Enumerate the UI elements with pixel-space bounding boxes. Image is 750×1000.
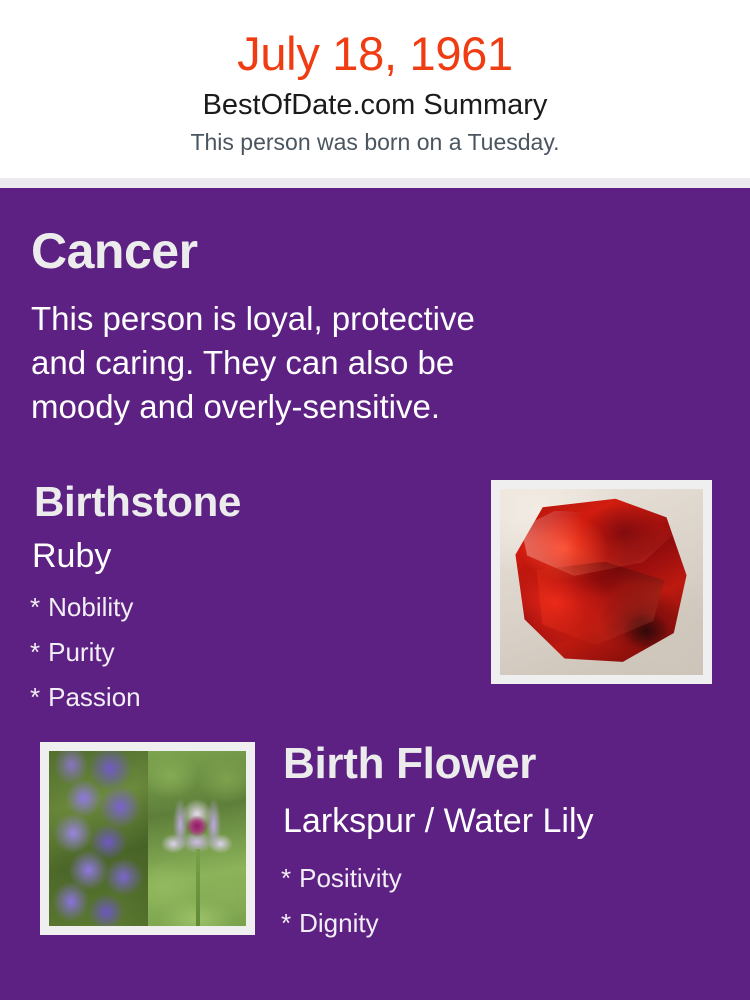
birth-day-note: This person was born on a Tuesday. — [0, 128, 750, 156]
birthstone-heading: Birthstone — [34, 477, 241, 527]
ruby-inclusion — [623, 613, 670, 650]
birthflower-heading: Birth Flower — [283, 738, 536, 790]
birthstone-name: Ruby — [32, 535, 111, 577]
list-item: *Purity — [30, 630, 450, 675]
zodiac-description-line: This person is loyal, protective — [31, 297, 671, 341]
trait-label: Positivity — [299, 863, 402, 893]
page-header: July 18, 1961 BestOfDate.com Summary Thi… — [0, 0, 750, 178]
trait-label: Passion — [48, 682, 141, 712]
larkspur-photo — [49, 751, 148, 926]
list-item: *Dignity — [281, 901, 701, 946]
birthstone-image-frame — [491, 480, 712, 684]
zodiac-description: This person is loyal, protective and car… — [31, 297, 671, 429]
water-lily-photo — [148, 751, 247, 926]
birthflower-trait-list: *Positivity *Dignity — [281, 856, 701, 946]
ruby-gemstone-image — [500, 489, 703, 675]
ruby-crystal-shape — [510, 497, 692, 667]
birthflower-image-frame — [40, 742, 255, 935]
zodiac-description-line: and caring. They can also be — [31, 341, 671, 385]
list-item: *Passion — [30, 675, 450, 720]
birthstone-trait-list: *Nobility *Purity *Passion — [30, 585, 450, 720]
site-name: BestOfDate.com Summary — [0, 88, 750, 122]
bullet-star-icon: * — [30, 637, 40, 667]
trait-label: Nobility — [48, 592, 133, 622]
list-item: *Positivity — [281, 856, 701, 901]
summary-page: July 18, 1961 BestOfDate.com Summary Thi… — [0, 0, 750, 1000]
bullet-star-icon: * — [30, 682, 40, 712]
bullet-star-icon: * — [281, 908, 291, 938]
bullet-star-icon: * — [281, 863, 291, 893]
header-divider — [0, 178, 750, 188]
trait-label: Purity — [48, 637, 114, 667]
page-title-date: July 18, 1961 — [0, 27, 750, 81]
zodiac-description-line: moody and overly-sensitive. — [31, 385, 671, 429]
birthflower-name: Larkspur / Water Lily — [283, 800, 594, 842]
lily-stem — [196, 849, 200, 926]
zodiac-sign-heading: Cancer — [31, 222, 198, 280]
trait-label: Dignity — [299, 908, 378, 938]
bullet-star-icon: * — [30, 592, 40, 622]
birthflower-image — [49, 751, 246, 926]
list-item: *Nobility — [30, 585, 450, 630]
